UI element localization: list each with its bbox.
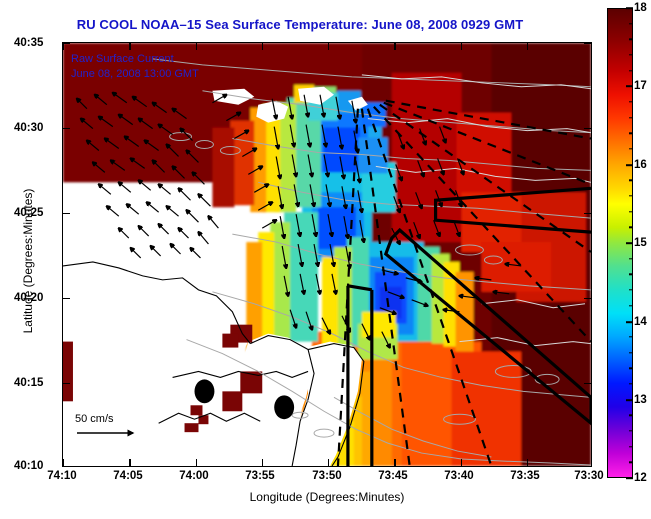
- cbar-tickmark-17: [626, 85, 633, 87]
- y-tickmark: [63, 383, 70, 384]
- map-canvas: Raw Surface Current June 08, 2008 13:00 …: [63, 43, 591, 466]
- xtick-1: 74:05: [113, 470, 142, 482]
- y-tickmark: [63, 128, 70, 129]
- ytick-1: 40:30: [14, 122, 43, 134]
- cbar-minor-tick: [629, 54, 634, 55]
- cbar-minor-tick: [629, 430, 634, 431]
- cbar-tick-14: 14: [634, 316, 647, 328]
- cbar-minor-tick: [629, 462, 634, 463]
- cbar-minor-tick: [629, 227, 634, 228]
- x-tickmark: [461, 459, 462, 466]
- xtick-2: 74:00: [179, 470, 208, 482]
- y-axis-label: Latitude (Degrees:Minutes): [21, 151, 35, 371]
- y-tickmark: [63, 43, 70, 44]
- page-title: RU COOL NOAA–15 Sea Surface Temperature:…: [0, 17, 600, 32]
- y-tickmark-right: [584, 213, 591, 214]
- y-tickmark: [63, 213, 70, 214]
- cbar-minor-tick: [629, 289, 634, 290]
- cbar-tickmark-14: [626, 321, 633, 323]
- x-axis-label: Longitude (Degrees:Minutes): [62, 490, 592, 504]
- x-tickmark-top: [461, 43, 462, 50]
- x-tickmark-top: [196, 43, 197, 50]
- x-tickmark: [63, 459, 64, 466]
- cbar-minor-tick: [629, 180, 634, 181]
- cbar-minor-tick: [629, 23, 634, 24]
- xtick-0: 74:10: [47, 470, 76, 482]
- x-tickmark: [328, 459, 329, 466]
- x-tickmark-top: [129, 43, 130, 50]
- velocity-scale-label: 50 cm/s: [75, 413, 141, 425]
- cbar-minor-tick: [629, 195, 634, 196]
- velocity-scale-legend: 50 cm/s: [75, 413, 141, 442]
- cbar-minor-tick: [629, 446, 634, 447]
- y-tickmark-right: [584, 383, 591, 384]
- subtitle-block: Raw Surface Current June 08, 2008 13:00 …: [71, 52, 199, 82]
- cbar-minor-tick: [629, 211, 634, 212]
- xtick-7: 73:35: [510, 470, 539, 482]
- ytick-0: 40:35: [14, 37, 43, 49]
- cbar-minor-tick: [629, 117, 634, 118]
- overlay-lanes-and-transects: [63, 43, 591, 466]
- cbar-minor-tick: [629, 70, 634, 71]
- x-tickmark-top: [328, 43, 329, 50]
- x-tickmark: [129, 459, 130, 466]
- cbar-tickmark-12: [626, 477, 633, 479]
- cbar-tick-16: 16: [634, 159, 647, 171]
- ytick-5: 40:10: [14, 460, 43, 472]
- cbar-tickmark-16: [626, 164, 633, 166]
- cbar-tickmark-13: [626, 399, 633, 401]
- cbar-tick-17: 17: [634, 80, 647, 92]
- xtick-4: 73:50: [312, 470, 341, 482]
- x-tickmark-top: [527, 43, 528, 50]
- map-plot-area[interactable]: Raw Surface Current June 08, 2008 13:00 …: [62, 42, 592, 467]
- cbar-minor-tick: [629, 39, 634, 40]
- x-tickmark-top: [262, 43, 263, 50]
- right-arrow-icon: [75, 427, 141, 439]
- cbar-minor-tick: [629, 336, 634, 337]
- xtick-6: 73:40: [444, 470, 473, 482]
- xtick-5: 73:45: [378, 470, 407, 482]
- shipping-lane-boxes: [348, 188, 591, 466]
- cbar-minor-tick: [629, 368, 634, 369]
- cbar-minor-tick: [629, 258, 634, 259]
- subtitle-line-2: June 08, 2008 13:00 GMT: [71, 67, 199, 82]
- x-tickmark: [196, 459, 197, 466]
- y-tickmark-right: [584, 298, 591, 299]
- cbar-minor-tick: [629, 101, 634, 102]
- x-tickmark: [527, 459, 528, 466]
- y-tickmark: [63, 298, 70, 299]
- y-tickmark-right: [584, 128, 591, 129]
- subtitle-line-1: Raw Surface Current: [71, 52, 199, 67]
- cbar-tick-15: 15: [634, 237, 647, 249]
- cbar-tick-18: 18: [634, 2, 647, 14]
- cbar-tick-12: 12: [634, 472, 647, 484]
- dashed-transect-lines: [338, 101, 591, 466]
- x-tickmark: [394, 459, 395, 466]
- ytick-4: 40:15: [14, 377, 43, 389]
- cbar-minor-tick: [629, 148, 634, 149]
- cbar-minor-tick: [629, 352, 634, 353]
- xtick-3: 73:55: [245, 470, 274, 482]
- x-tickmark-top: [394, 43, 395, 50]
- xtick-8: 73:30: [574, 470, 603, 482]
- cbar-tickmark-15: [626, 242, 633, 244]
- x-tickmark: [262, 459, 263, 466]
- cbar-minor-tick: [629, 415, 634, 416]
- cbar-tickmark-18: [626, 7, 633, 9]
- cbar-minor-tick: [629, 305, 634, 306]
- y-tickmark-right: [584, 43, 591, 44]
- sst-figure: RU COOL NOAA–15 Sea Surface Temperature:…: [0, 0, 651, 519]
- cbar-tick-13: 13: [634, 394, 647, 406]
- cbar-minor-tick: [629, 133, 634, 134]
- cbar-minor-tick: [629, 274, 634, 275]
- cbar-minor-tick: [629, 383, 634, 384]
